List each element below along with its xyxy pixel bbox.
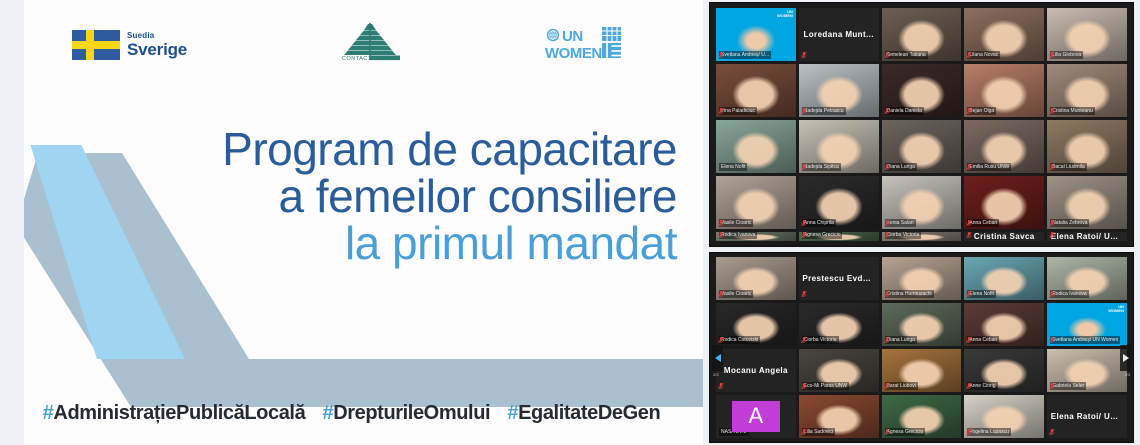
participant-name: Rodica Ivanova xyxy=(719,232,757,239)
participant-name: Daniela Daniela xyxy=(885,107,924,115)
participant-name: Svetlana Andrieș/ UN Women xyxy=(1050,336,1120,344)
participant-tile[interactable]: Rodica Cotovizki xyxy=(716,303,796,346)
participant-name: Vogelina Lupascu xyxy=(967,428,1010,436)
participant-tile[interactable]: Lilia Sadovici xyxy=(799,395,879,438)
mic-muted-icon xyxy=(966,290,972,298)
participant-tile[interactable]: UNWOMENSvetlana Andrieș/ U... xyxy=(716,8,796,61)
participant-name: Svetlana Andrieș/ U... xyxy=(719,51,771,59)
mic-muted-icon xyxy=(801,163,807,171)
participant-name: Rodica Ivanova xyxy=(1050,290,1088,298)
participant-tile[interactable]: Bacal Liudmila xyxy=(1047,120,1127,173)
participant-tile[interactable]: Vasile Cioaric xyxy=(716,257,796,300)
participant-tile[interactable]: Cristina Hurmuzachi xyxy=(882,257,962,300)
mic-muted-icon xyxy=(884,382,890,390)
logo-sweden-sverige: Suedia Sverige xyxy=(72,30,187,60)
slide-with-zoom-screenshot: Suedia Sverige xyxy=(0,0,1140,445)
participant-name: Vasile Cioaric xyxy=(719,290,753,298)
participant-tile[interactable]: Irina Paladiciuc xyxy=(716,64,796,117)
participant-tile[interactable]: Nadejda Petrascu xyxy=(799,64,879,117)
participant-name: Vasile Cioaric xyxy=(719,219,753,227)
participant-tile[interactable]: Ciorba Victoria xyxy=(882,232,962,241)
gallery-prev-button[interactable] xyxy=(712,345,723,371)
mic-muted-icon xyxy=(1049,107,1055,115)
participant-tile[interactable]: Lilia Globova xyxy=(1047,8,1127,61)
zoom-gallery-top[interactable]: UNWOMENSvetlana Andrieș/ U...Loredana Mu… xyxy=(709,2,1134,247)
participant-tile[interactable]: Nadejda Sipitca xyxy=(799,120,879,173)
logo-sweden-large-text: Sverige xyxy=(127,41,187,58)
participant-tile[interactable]: ANASA EVM xyxy=(716,395,796,438)
mic-muted-icon xyxy=(1049,51,1055,59)
mic-muted-icon xyxy=(884,163,890,171)
gallery-page-indicator-left: 2/3 xyxy=(713,372,719,377)
mic-muted-icon xyxy=(801,219,807,227)
participant-name: Elena Nofit xyxy=(719,163,747,171)
participant-tile[interactable]: Eco-Mi Paras UNW xyxy=(799,349,879,392)
mic-muted-icon xyxy=(801,290,807,298)
un-women-line1: UN xyxy=(562,28,583,45)
participant-tile[interactable]: Gabriela Seler xyxy=(1047,349,1127,392)
participant-tile[interactable]: Vogelina Lupascu xyxy=(964,395,1044,438)
gallery-page-indicator-right: 3/3 xyxy=(1124,372,1130,377)
participant-name-center: Cristina Savca xyxy=(972,232,1037,241)
zoom-meeting-column: UNWOMENSvetlana Andrieș/ U...Loredana Mu… xyxy=(703,0,1140,445)
participant-name: Temelean Tatiana xyxy=(885,51,928,59)
mic-muted-icon xyxy=(884,107,890,115)
participant-name: Emilia Rusu UNW xyxy=(967,163,1011,171)
participant-tile[interactable]: Anne Ciorig xyxy=(964,349,1044,392)
participant-tile[interactable]: Temelean Tatiana xyxy=(882,8,962,61)
participant-name: Rodica Cotovizki xyxy=(719,336,760,344)
participant-name-center: Elena Ratoi/ UN... xyxy=(1049,412,1126,421)
participant-name: Cristina Munteanu xyxy=(1050,107,1095,115)
participant-name-center: Elena Ratoi/ UN... xyxy=(1049,232,1126,241)
mic-muted-icon xyxy=(801,336,807,344)
participant-tile[interactable]: Cristina Munteanu xyxy=(1047,64,1127,117)
mic-muted-icon xyxy=(801,51,807,59)
mic-muted-icon xyxy=(801,232,807,239)
participant-tile[interactable]: Vasile Cioaric xyxy=(716,176,796,229)
mic-muted-icon xyxy=(718,290,724,298)
participant-tile[interactable]: Rodica Ivanova xyxy=(1047,257,1127,300)
participant-name: Nadejda Sipitca xyxy=(802,163,841,171)
participant-tile[interactable]: Diana Luriga xyxy=(882,120,962,173)
swedish-flag-icon xyxy=(72,30,120,60)
participant-tile[interactable]: Bejan Olga xyxy=(964,64,1044,117)
mic-muted-icon xyxy=(1049,163,1055,171)
participant-tile[interactable]: Agnesa Grecicio xyxy=(799,232,879,241)
mic-muted-icon xyxy=(884,428,890,436)
participant-tile[interactable]: Anna Chiprila xyxy=(799,176,879,229)
hash-symbol: # xyxy=(507,402,518,424)
mic-muted-icon xyxy=(1049,290,1055,298)
mic-muted-icon xyxy=(966,382,972,390)
mic-muted-icon xyxy=(884,232,890,239)
contact-logo-label: CONTACT xyxy=(342,56,372,62)
participant-name: Nadejda Petrascu xyxy=(802,107,846,115)
participant-avatar: A xyxy=(732,401,780,432)
slide-left-margin xyxy=(0,0,24,445)
mic-muted-icon xyxy=(966,107,972,115)
participant-tile[interactable]: Prestescu Evdoc... xyxy=(799,257,879,300)
logo-un-women: UN WOMEN xyxy=(545,26,645,66)
participant-tile[interactable]: Barat Liubovi xyxy=(882,349,962,392)
mic-muted-icon xyxy=(884,219,890,227)
participant-name: Gabriela Seler xyxy=(1050,382,1086,390)
mic-muted-icon xyxy=(884,336,890,344)
participant-name-center: Prestescu Evdoc... xyxy=(800,274,877,283)
chevron-right-icon xyxy=(1123,354,1129,362)
mic-muted-icon xyxy=(966,336,972,344)
contact-pyramid-icon: CONTACT xyxy=(330,22,410,68)
mic-muted-icon xyxy=(966,163,972,171)
mic-muted-icon xyxy=(801,382,807,390)
participant-tile[interactable]: Loredana Munt... xyxy=(799,8,879,61)
mic-muted-icon xyxy=(966,428,972,436)
un-women-line2: WOMEN xyxy=(545,45,602,62)
participant-tile[interactable]: UNWOMENSvetlana Andrieș/ UN Women xyxy=(1047,303,1127,346)
participant-tile[interactable]: Anna Ceban xyxy=(964,303,1044,346)
participant-tile[interactable]: Elena Ratoi/ UN... xyxy=(1047,232,1127,241)
mic-muted-icon xyxy=(718,219,724,227)
title-line-1: Program de capacitare xyxy=(222,126,677,173)
mic-muted-icon xyxy=(718,336,724,344)
mic-muted-icon xyxy=(966,219,972,227)
mic-muted-icon xyxy=(966,232,972,239)
mic-muted-icon xyxy=(1049,428,1055,436)
participant-name: Cristina Hurmuzachi xyxy=(885,290,934,298)
participant-name: Eco-Mi Paras UNW xyxy=(802,382,849,390)
mic-muted-icon xyxy=(884,290,890,298)
presentation-slide: Suedia Sverige xyxy=(0,0,703,445)
participant-tile[interactable]: Cristina Savca xyxy=(964,232,1044,241)
mic-muted-icon xyxy=(718,107,724,115)
participant-name: Ciorba Victoria xyxy=(802,336,839,344)
mic-muted-icon xyxy=(1049,232,1055,239)
logo-sweden-small-text: Suedia xyxy=(127,32,187,40)
participant-tile[interactable]: Elena Ratoi/ UN... xyxy=(1047,395,1127,438)
participant-name: Irina Paladiciuc xyxy=(719,107,757,115)
hash-symbol: # xyxy=(43,402,54,424)
participant-name: Natalia Zebrova xyxy=(1050,219,1089,227)
mic-muted-icon xyxy=(884,51,890,59)
hashtag-item: #EgalitateDeGen xyxy=(507,402,660,424)
mic-muted-icon xyxy=(966,51,972,59)
mic-muted-icon xyxy=(1049,219,1055,227)
participant-name-center: Loredana Munt... xyxy=(801,30,875,39)
participant-name: Bacal Liudmila xyxy=(1050,163,1087,171)
mic-muted-icon xyxy=(718,382,724,390)
participant-tile[interactable]: Xenia Salari xyxy=(882,176,962,229)
participant-tile[interactable]: Elena Nofit xyxy=(964,257,1044,300)
participant-name: Agnesa Grecicio xyxy=(802,232,843,239)
title-line-2: a femeilor consiliere xyxy=(222,173,677,220)
hashtag-text: EgalitateDeGen xyxy=(518,402,660,424)
participant-tile[interactable]: Anna Ceban xyxy=(964,176,1044,229)
participant-name: Ciorba Victoria xyxy=(885,232,922,239)
participant-tile[interactable]: Emilia Rusu UNW xyxy=(964,120,1044,173)
un-women-icon: UN WOMEN xyxy=(545,26,645,66)
un-women-watermark-icon: UNWOMEN xyxy=(1108,305,1124,313)
mic-muted-icon xyxy=(718,51,724,59)
hashtag-row: #AdministrațiePublicăLocală #DrepturileO… xyxy=(0,402,703,425)
zoom-gallery-bottom[interactable]: Vasile CioaricPrestescu Evdoc...Cristina… xyxy=(709,252,1134,443)
chevron-left-icon xyxy=(715,354,721,362)
participant-tile[interactable]: Rodica Ivanova xyxy=(716,232,796,241)
participant-name: Agnesa Grecicio xyxy=(885,428,926,436)
logo-row: Suedia Sverige xyxy=(0,14,703,60)
hashtag-item: #AdministrațiePublicăLocală xyxy=(43,402,311,424)
participant-tile[interactable]: Natalia Zebrova xyxy=(1047,176,1127,229)
title-line-3: la primul mandat xyxy=(222,220,677,267)
participant-tile[interactable]: Diana Luriga xyxy=(882,303,962,346)
un-women-watermark-icon: UNWOMEN xyxy=(777,10,793,18)
participant-tile[interactable]: Lilana Novac xyxy=(964,8,1044,61)
gallery-next-button[interactable] xyxy=(1120,345,1131,371)
participant-tile[interactable]: Daniela Daniela xyxy=(882,64,962,117)
slide-title: Program de capacitare a femeilor consili… xyxy=(222,126,677,267)
participant-name: Anna Chiprila xyxy=(802,219,836,227)
participant-tile[interactable]: Mocanu Angela xyxy=(716,349,796,392)
logo-contact: CONTACT xyxy=(330,22,410,68)
participant-name-center: Mocanu Angela xyxy=(722,366,790,375)
participant-tile[interactable]: Ciorba Victoria xyxy=(799,303,879,346)
participant-tile[interactable]: Elena Nofit xyxy=(716,120,796,173)
hashtag-text: AdministrațiePublicăLocală xyxy=(53,402,305,424)
participant-tile[interactable]: Agnesa Grecicio xyxy=(882,395,962,438)
hashtag-item: #DrepturileOmului xyxy=(322,402,495,424)
mic-muted-icon xyxy=(801,428,807,436)
hashtag-text: DrepturileOmului xyxy=(333,402,490,424)
mic-muted-icon xyxy=(1049,336,1055,344)
mic-muted-icon xyxy=(1049,382,1055,390)
mic-muted-icon xyxy=(718,232,724,239)
mic-muted-icon xyxy=(801,107,807,115)
hash-symbol: # xyxy=(322,402,333,424)
